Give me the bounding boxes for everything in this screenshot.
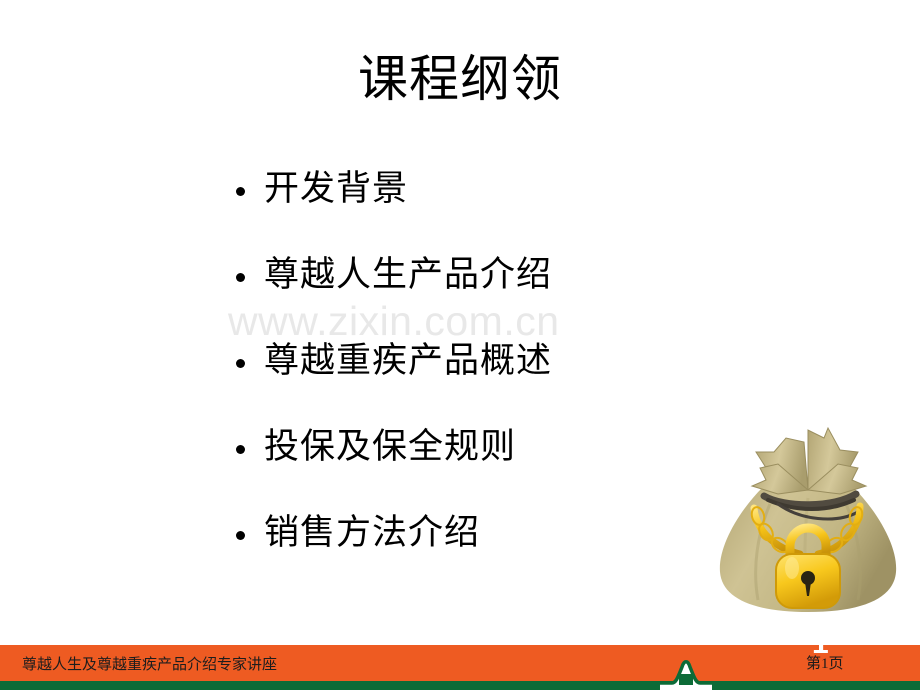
list-item: 尊越人生产品介绍 xyxy=(236,256,756,342)
green-arch-logo-icon xyxy=(660,655,712,690)
page-title: 课程纲领 xyxy=(0,48,920,110)
list-item: 销售方法介绍 xyxy=(236,514,756,600)
presentation-slide: 课程纲领 www.zixin.com.cn 开发背景 尊越人生产品介绍 尊越重疾… xyxy=(0,0,920,690)
list-item-label: 尊越人生产品介绍 xyxy=(264,256,552,294)
list-item: 投保及保全规则 xyxy=(236,428,756,514)
list-item-label: 投保及保全规则 xyxy=(264,428,516,466)
list-item-label: 销售方法介绍 xyxy=(264,514,480,552)
list-item-label: 开发背景 xyxy=(264,170,408,208)
list-item: 开发背景 xyxy=(236,170,756,256)
outline-bullet-list: 开发背景 尊越人生产品介绍 尊越重疾产品概述 投保及保全规则 销售方法介绍 xyxy=(236,170,756,600)
bullet-dot-icon xyxy=(236,346,264,374)
bullet-dot-icon xyxy=(236,432,264,460)
footer-green-strip xyxy=(0,681,920,690)
list-item-label: 尊越重疾产品概述 xyxy=(264,342,552,380)
list-item: 尊越重疾产品概述 xyxy=(236,342,756,428)
page-number-label: 第1页 xyxy=(806,655,844,673)
footer-title-text: 尊越人生及尊越重疾产品介绍专家讲座 xyxy=(22,656,277,674)
bullet-dot-icon xyxy=(236,518,264,546)
bullet-dot-icon xyxy=(236,260,264,288)
bullet-dot-icon xyxy=(236,174,264,202)
